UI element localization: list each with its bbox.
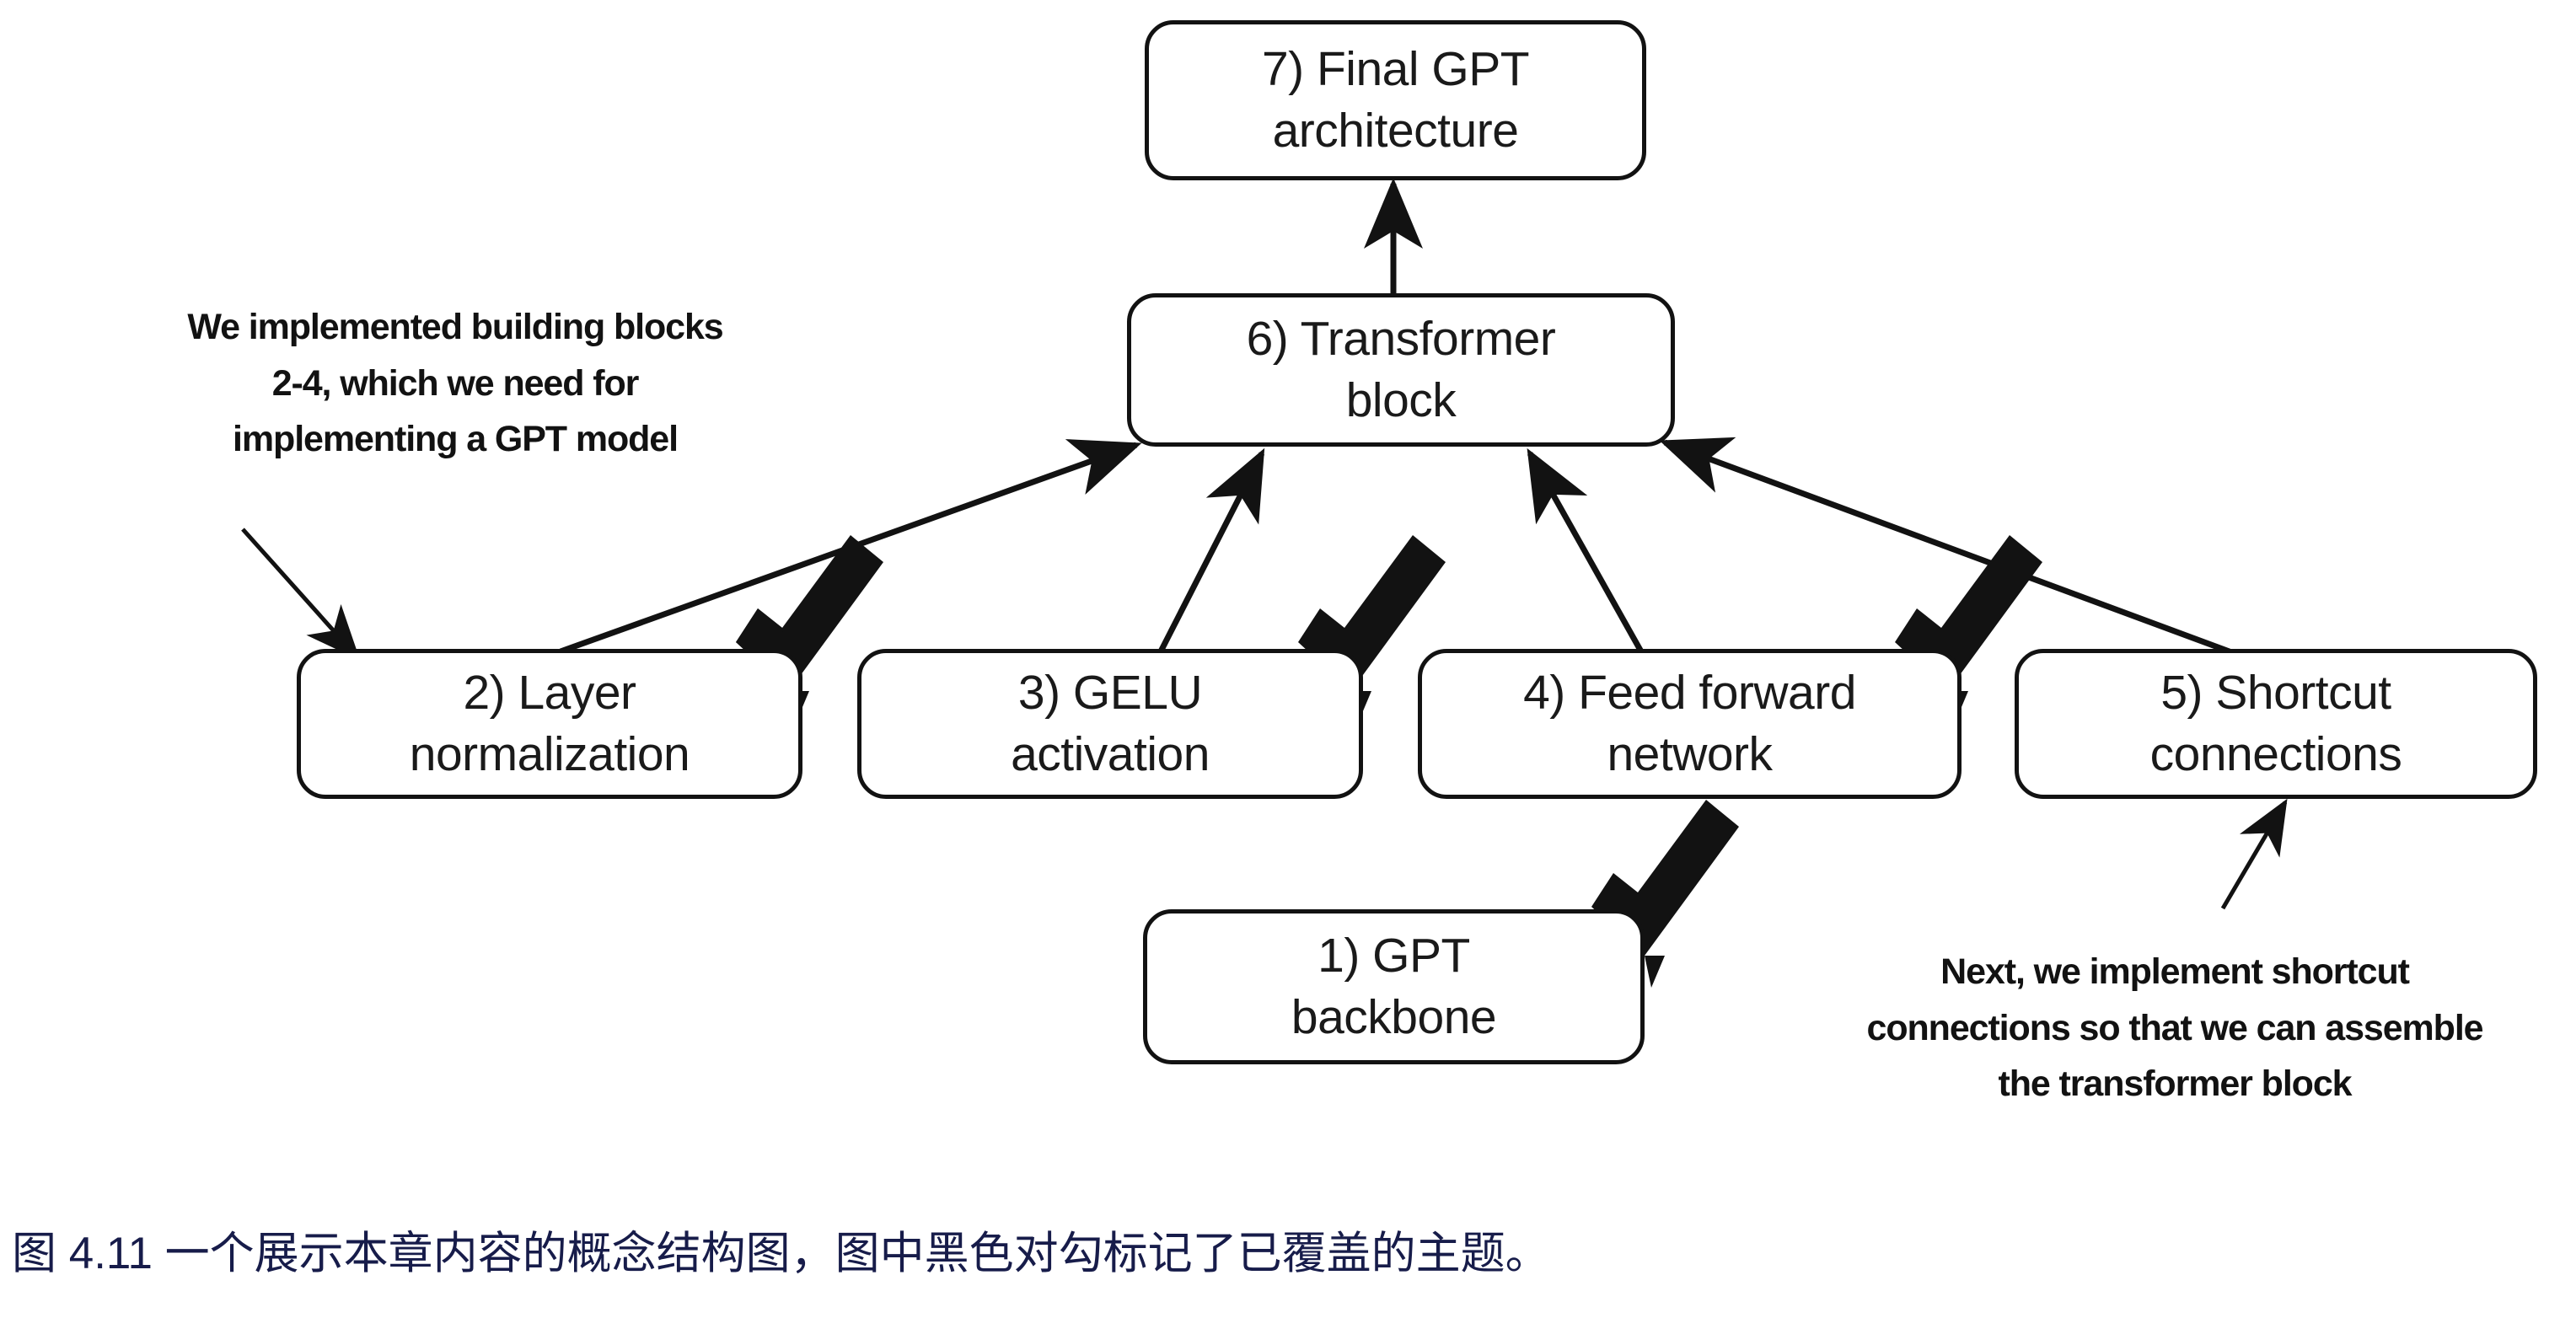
node-feed-forward-network-line2: network [1607,724,1772,785]
figure-canvas: 7) Final GPT architecture 6) Transformer… [0,0,2576,1318]
node-transformer-block-line2: block [1346,370,1457,431]
node-gelu-activation-line2: activation [1011,724,1210,785]
edge-feedforward-to-transformer [1530,453,1642,653]
node-gelu-activation[interactable]: 3) GELU activation [857,649,1363,799]
node-final-gpt-architecture-line2: architecture [1273,100,1519,162]
node-gpt-backbone-line2: backbone [1291,987,1496,1048]
node-final-gpt-architecture[interactable]: 7) Final GPT architecture [1145,20,1646,180]
node-final-gpt-architecture-line1: 7) Final GPT [1262,39,1529,100]
node-layer-normalization-line1: 2) Layer [463,662,636,724]
node-layer-normalization-line2: normalization [410,724,690,785]
node-gpt-backbone-line1: 1) GPT [1318,925,1470,987]
node-layer-normalization[interactable]: 2) Layer normalization [297,649,802,799]
leader-left-note-to-layernorm [243,529,357,657]
node-gpt-backbone[interactable]: 1) GPT backbone [1143,909,1645,1064]
node-feed-forward-network[interactable]: 4) Feed forward network [1418,649,1962,799]
figure-caption: 图 4.11 一个展示本章内容的概念结构图，图中黑色对勾标记了已覆盖的主题。 [12,1227,1550,1281]
leader-right-note-to-shortcut [2223,802,2285,908]
annotation-left-note: We implemented building blocks 2-4, whic… [110,299,801,468]
node-transformer-block-line1: 6) Transformer [1247,308,1556,370]
edge-gelu-to-transformer [1160,453,1262,653]
annotation-right-note-line2: connections so that we can assemble [1787,1000,2563,1057]
annotation-right-note-line3: the transformer block [1787,1056,2563,1112]
node-feed-forward-network-line1: 4) Feed forward [1523,662,1856,724]
node-shortcut-connections-line1: 5) Shortcut [2160,662,2391,724]
annotation-right-note: Next, we implement shortcut connections … [1787,944,2563,1112]
node-shortcut-connections-line2: connections [2150,724,2402,785]
annotation-left-note-line2: 2-4, which we need for [110,356,801,412]
annotation-left-note-line3: implementing a GPT model [110,411,801,468]
node-shortcut-connections[interactable]: 5) Shortcut connections [2015,649,2537,799]
node-transformer-block[interactable]: 6) Transformer block [1127,293,1675,447]
node-gelu-activation-line1: 3) GELU [1018,662,1202,724]
annotation-right-note-line1: Next, we implement shortcut [1787,944,2563,1000]
annotation-left-note-line1: We implemented building blocks [110,299,801,356]
